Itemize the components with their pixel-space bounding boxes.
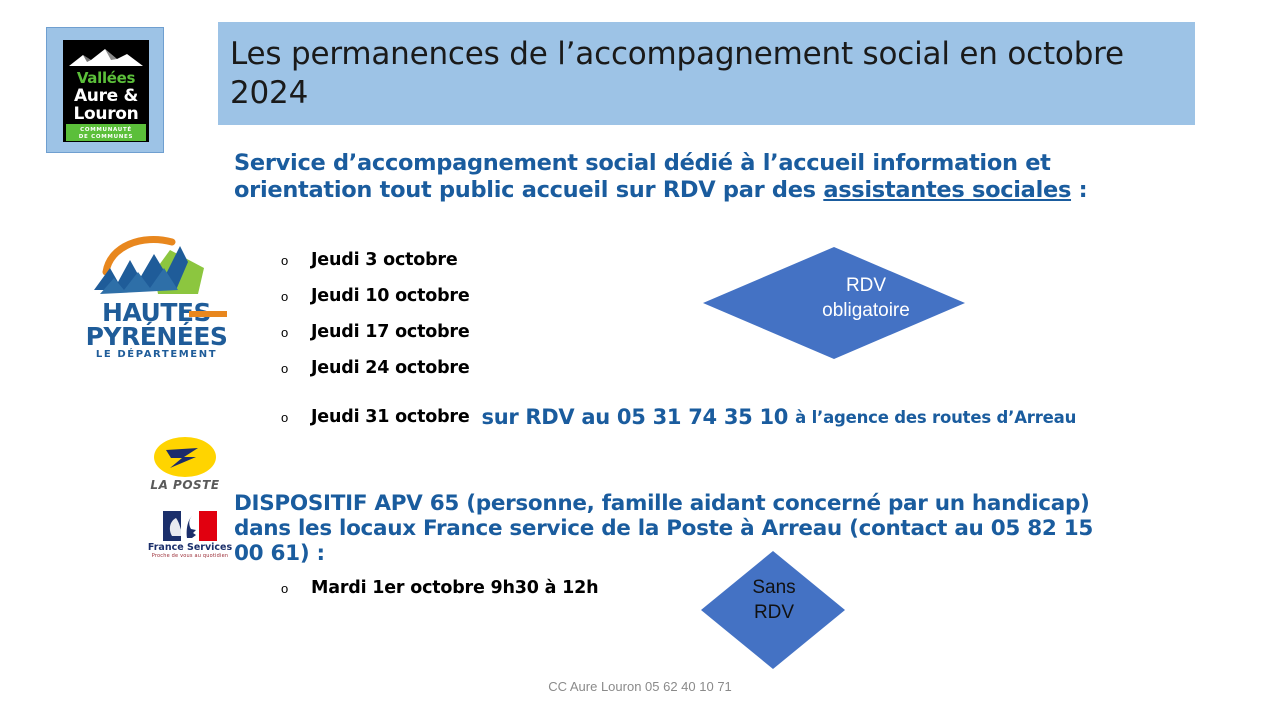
booking-location-text: à l’agence des routes d’Arreau — [795, 408, 1076, 427]
bullet-circle-icon: o — [281, 325, 311, 340]
bullet-circle-icon: o — [281, 410, 311, 425]
community-logo-band: COMMUNAUTÉ DE COMMUNES — [66, 124, 146, 141]
title-banner: Les permanences de l’accompagnement soci… — [218, 22, 1195, 125]
mountain-icon — [67, 46, 145, 68]
list-item-label: Jeudi 10 octobre — [311, 286, 470, 306]
community-logo-band-line1: COMMUNAUTÉ — [66, 127, 146, 133]
community-logo-band-line2: DE COMMUNES — [66, 134, 146, 140]
la-poste-bird-icon — [154, 437, 216, 477]
la-poste-logo: LA POSTE — [146, 437, 224, 495]
rdv-obligatoire-diamond: RDV obligatoire — [703, 247, 965, 359]
page-title: Les permanences de l’accompagnement soci… — [230, 35, 1185, 113]
department-logo-graphic — [84, 228, 229, 300]
list-item: o Jeudi 24 octobre — [281, 358, 1076, 394]
bullet-circle-icon: o — [281, 581, 311, 596]
community-logo-louron: Louron — [63, 104, 149, 124]
sans-rdv-diamond: Sans RDV — [701, 551, 845, 669]
department-logo-dash — [189, 311, 227, 317]
rdv-obligatoire-line1: RDV — [801, 273, 931, 298]
booking-phone-text: sur RDV au 05 31 74 35 10 — [482, 405, 789, 429]
footer-contact: CC Aure Louron 05 62 40 10 71 — [0, 679, 1280, 694]
bullet-circle-icon: o — [281, 289, 311, 304]
france-services-marianne-icon — [146, 509, 234, 543]
france-services-subtitle: Proche de vous au quotidien — [146, 553, 234, 559]
sans-rdv-line1: Sans — [725, 575, 823, 600]
social-service-heading: Service d’accompagnement social dédié à … — [234, 150, 1174, 204]
rdv-obligatoire-label: RDV obligatoire — [801, 273, 931, 323]
community-logo-aure: Aure & — [63, 86, 149, 106]
department-logo-tagline: LE DÉPARTEMENT — [84, 349, 229, 360]
department-logo: HAUTES PYRÉNÉES LE DÉPARTEMENT — [84, 228, 229, 368]
apv-dates-list: o Mardi 1er octobre 9h30 à 12h — [281, 578, 598, 614]
community-logo-vallees: Vallées — [63, 69, 149, 87]
community-logo-inner: Vallées Aure & Louron COMMUNAUTÉ DE COMM… — [63, 40, 149, 142]
department-logo-line2: PYRÉNÉES — [84, 322, 229, 351]
apv-heading: DISPOSITIF APV 65 (personne, famille aid… — [234, 491, 1124, 566]
list-item-label: Jeudi 24 octobre — [311, 358, 470, 378]
sans-rdv-label: Sans RDV — [725, 575, 823, 625]
bullet-circle-icon: o — [281, 361, 311, 376]
list-item: o Mardi 1er octobre 9h30 à 12h — [281, 578, 598, 614]
sans-rdv-line2: RDV — [725, 600, 823, 625]
social-heading-part2: : — [1071, 177, 1087, 203]
france-services-logo: France Services Proche de vous au quotid… — [146, 509, 234, 561]
list-item-label: Jeudi 3 octobre — [311, 250, 458, 270]
list-item-label: Mardi 1er octobre 9h30 à 12h — [311, 578, 598, 598]
france-services-title: France Services — [146, 542, 234, 553]
social-heading-underlined: assistantes sociales — [823, 177, 1071, 203]
list-item: o Jeudi 31 octobre sur RDV au 05 31 74 3… — [281, 394, 1076, 440]
rdv-obligatoire-line2: obligatoire — [801, 298, 931, 323]
list-item-label: Jeudi 31 octobre — [311, 407, 470, 427]
community-logo: Vallées Aure & Louron COMMUNAUTÉ DE COMM… — [46, 27, 164, 153]
la-poste-label: LA POSTE — [146, 478, 224, 492]
list-item-label: Jeudi 17 octobre — [311, 322, 470, 342]
bullet-circle-icon: o — [281, 253, 311, 268]
